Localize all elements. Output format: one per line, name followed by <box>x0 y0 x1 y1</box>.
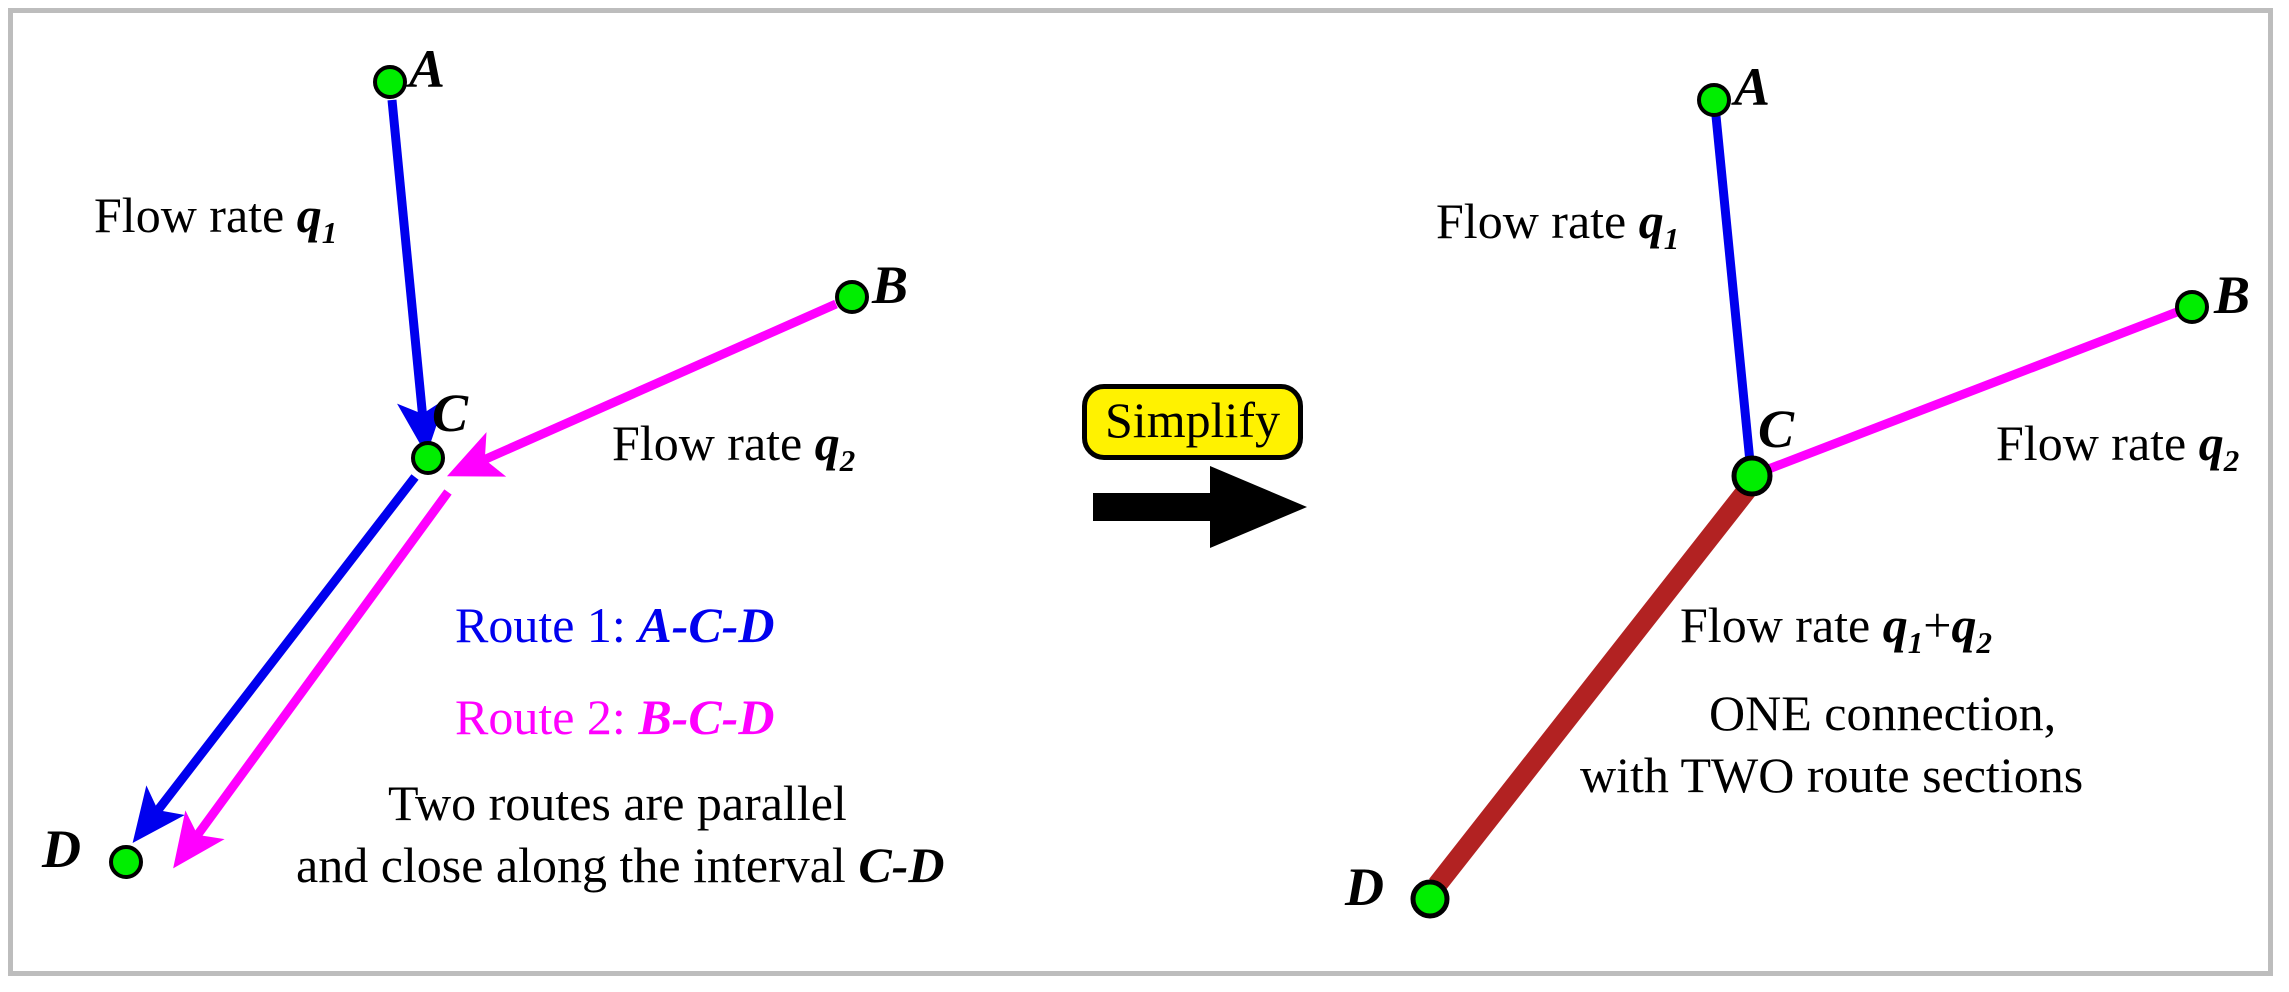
flow-rate-q1-left: Flow rate q1 <box>94 190 337 248</box>
node-label-left-b: B <box>872 258 908 312</box>
flow-rate-q1-left-symbol: q <box>297 187 322 243</box>
left-note-interval-pair: C-D <box>858 837 944 893</box>
right-note-line-1: ONE connection, <box>1709 688 2056 738</box>
node-right-c[interactable] <box>1734 458 1770 494</box>
flow-rate-sum-plus: + <box>1923 597 1951 653</box>
flow-rate-q1-left-subscript: 1 <box>322 215 338 250</box>
flow-rate-q2-left: Flow rate q2 <box>612 418 855 476</box>
flow-rate-q2-right-subscript: 2 <box>2224 443 2240 478</box>
flow-rate-q1-right-subscript: 1 <box>1664 221 1680 256</box>
flow-rate-q2-right: Flow rate q2 <box>1996 418 2239 476</box>
node-label-left-a: A <box>409 42 445 96</box>
flow-rate-q2-right-symbol: q <box>2199 415 2224 471</box>
node-label-left-c: C <box>432 386 468 440</box>
node-label-right-c: C <box>1758 402 1794 456</box>
flow-rate-q1-right-symbol: q <box>1639 193 1664 249</box>
route-2-label: Route 2: B-C-D <box>455 692 774 742</box>
node-right-b[interactable] <box>2177 292 2207 322</box>
route-2-prefix: Route 2: <box>455 689 626 745</box>
node-left-c[interactable] <box>413 443 443 473</box>
left-note-line-1: Two routes are parallel <box>388 778 847 828</box>
node-right-a[interactable] <box>1699 85 1729 115</box>
right-note-line-2: with TWO route sections <box>1580 750 2083 800</box>
edge-right-a-c <box>1716 116 1750 462</box>
left-note-line-2: and close along the interval C-D <box>296 840 944 890</box>
edge-left-a-c <box>392 100 424 430</box>
node-label-left-d: D <box>42 822 81 876</box>
edge-left-c-d-route1 <box>148 477 415 823</box>
flow-rate-sum-subscript-2: 2 <box>1976 625 1992 660</box>
flow-rate-sum-right: Flow rate q1+q2 <box>1680 600 1992 658</box>
flow-rate-sum-text: Flow rate <box>1680 597 1870 653</box>
node-left-d[interactable] <box>111 847 141 877</box>
flow-rate-q2-left-symbol: q <box>815 415 840 471</box>
route-2-path: B-C-D <box>638 689 774 745</box>
flow-rate-q1-left-text: Flow rate <box>94 187 284 243</box>
route-1-prefix: Route 1: <box>455 597 626 653</box>
simplify-badge-label: Simplify <box>1105 392 1280 448</box>
node-label-right-a: A <box>1734 60 1770 114</box>
flow-rate-q1-right: Flow rate q1 <box>1436 196 1679 254</box>
node-label-right-b: B <box>2214 268 2250 322</box>
edge-right-c-d-merged <box>1437 490 1747 885</box>
figure-canvas: A B C D Flow rate q1 Flow rate q2 Route … <box>0 0 2289 992</box>
flow-rate-sum-subscript-1: 1 <box>1908 625 1924 660</box>
right-arrow-icon <box>1093 466 1307 548</box>
route-1-path: A-C-D <box>638 597 774 653</box>
flow-rate-sum-symbol-2: q <box>1951 597 1976 653</box>
flow-rate-q2-left-subscript: 2 <box>840 443 856 478</box>
route-1-label: Route 1: A-C-D <box>455 600 774 650</box>
flow-rate-sum-symbol-1: q <box>1883 597 1908 653</box>
flow-rate-q1-right-text: Flow rate <box>1436 193 1626 249</box>
flow-rate-q2-right-text: Flow rate <box>1996 415 2186 471</box>
node-right-d[interactable] <box>1413 882 1447 916</box>
node-left-b[interactable] <box>837 282 867 312</box>
flow-rate-q2-left-text: Flow rate <box>612 415 802 471</box>
left-note-line-2-text: and close along the interval <box>296 837 858 893</box>
node-left-a[interactable] <box>375 67 405 97</box>
simplify-badge[interactable]: Simplify <box>1082 384 1303 460</box>
node-label-right-d: D <box>1345 860 1384 914</box>
